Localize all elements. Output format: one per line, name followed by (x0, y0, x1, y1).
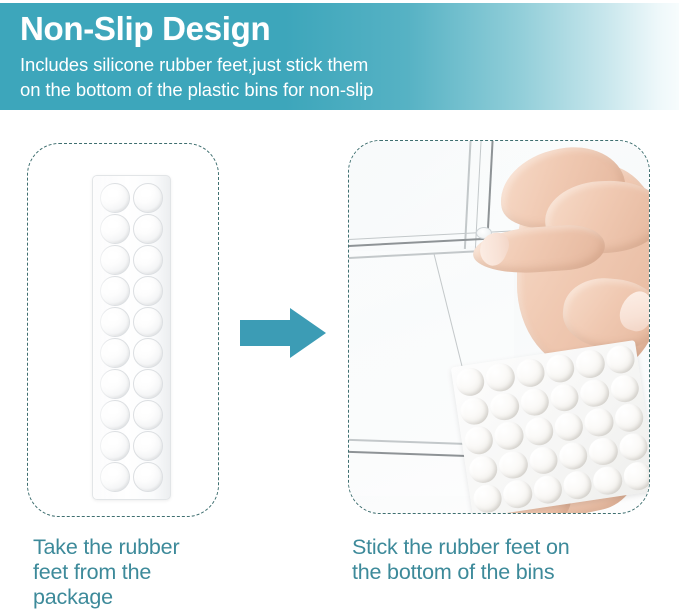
rubber-foot (132, 462, 164, 492)
rubber-foot (99, 369, 131, 399)
rubber-foot (99, 214, 131, 244)
rubber-foot (132, 245, 164, 275)
bin-application-image (349, 141, 649, 513)
rubber-foot-bump (502, 479, 534, 510)
rubber-foot-bump (609, 373, 641, 404)
rubber-foot-bump (497, 449, 529, 480)
rubber-foot (132, 214, 164, 244)
rubber-foot-bump (622, 461, 649, 492)
rubber-foot-bump (549, 382, 581, 413)
blister-package-image (92, 175, 171, 500)
rubber-foot (132, 338, 164, 368)
rubber-foot (132, 431, 164, 461)
left-caption-line-1: Take the rubber (33, 535, 248, 560)
banner-subtitle: Includes silicone rubber feet,just stick… (20, 52, 373, 102)
rubber-foot (99, 462, 131, 492)
rubber-foot-bump (484, 361, 516, 392)
rubber-foot-bump (604, 343, 636, 374)
rubber-foot-bump (463, 424, 495, 455)
rubber-foot-bump (472, 483, 504, 513)
rubber-foot-bump (587, 436, 619, 467)
rubber-foot (132, 400, 164, 430)
right-caption-line-2: the bottom of the bins (352, 560, 652, 585)
rubber-foot (99, 307, 131, 337)
rubber-foot (99, 338, 131, 368)
rubber-foot-bump (519, 386, 551, 417)
rubber-foot-bump (562, 470, 594, 501)
rubber-feet-sheet (451, 340, 649, 513)
infographic-page: Non-Slip Design Includes silicone rubber… (0, 0, 679, 614)
rubber-foot (99, 431, 131, 461)
sheet-bump-grid (454, 343, 649, 513)
rubber-foot (132, 369, 164, 399)
blister-dome-grid (98, 182, 165, 493)
left-caption-line-2: feet from the (33, 560, 248, 585)
rubber-foot (132, 276, 164, 306)
left-step-caption: Take the rubber feet from the package (33, 535, 248, 610)
rubber-foot-bump (557, 440, 589, 471)
rubber-foot (99, 183, 131, 213)
rubber-foot-bump (617, 431, 649, 462)
rubber-foot-bump (467, 454, 499, 485)
rubber-foot-bump (579, 377, 611, 408)
rubber-foot-bump (592, 465, 624, 496)
rubber-foot-bump (523, 415, 555, 446)
rubber-foot (132, 183, 164, 213)
rubber-foot (99, 276, 131, 306)
page-title: Non-Slip Design (20, 10, 270, 48)
rubber-foot-bump (514, 357, 546, 388)
rubber-foot-bump (613, 402, 645, 433)
rubber-foot-bump (553, 411, 585, 442)
rubber-foot-bump (574, 348, 606, 379)
rubber-foot-bump (527, 445, 559, 476)
rubber-foot (99, 400, 131, 430)
left-caption-line-3: package (33, 585, 248, 610)
right-step-caption: Stick the rubber feet on the bottom of t… (352, 535, 652, 585)
rubber-foot-bump (459, 395, 491, 426)
banner-subtitle-line-1: Includes silicone rubber feet,just stick… (20, 52, 373, 77)
rubber-foot-bump (583, 407, 615, 438)
right-caption-line-1: Stick the rubber feet on (352, 535, 652, 560)
arrow-right-icon (240, 308, 326, 358)
rubber-foot (132, 307, 164, 337)
rubber-foot-bump (454, 366, 486, 397)
rubber-foot-bump (532, 474, 564, 505)
rubber-foot (99, 245, 131, 275)
rubber-foot-bump (544, 352, 576, 383)
rubber-foot-bump (489, 391, 521, 422)
rubber-foot-bump (493, 420, 525, 451)
banner-subtitle-line-2: on the bottom of the plastic bins for no… (20, 77, 373, 102)
header-banner: Non-Slip Design Includes silicone rubber… (0, 3, 679, 110)
